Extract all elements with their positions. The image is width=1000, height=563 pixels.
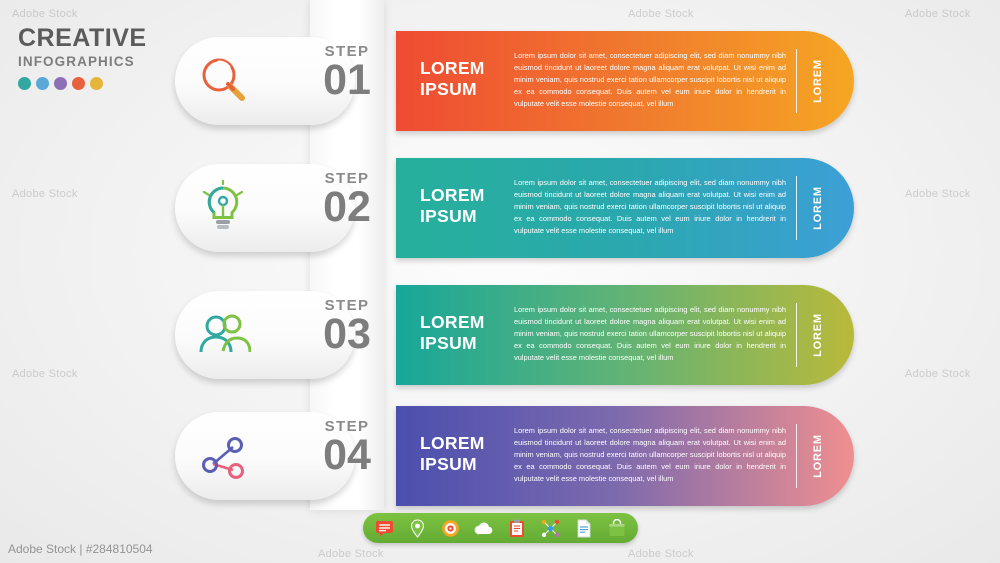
banner-divider: [796, 49, 797, 113]
step-row-2[interactable]: STEP 02 LOREM IPSUM Lorem ipsum dolor si…: [0, 158, 1000, 258]
network-nodes-icon[interactable]: [540, 518, 560, 538]
cloud-icon[interactable]: [474, 518, 494, 538]
banner-body: Lorem ipsum dolor sit amet, consectetuer…: [514, 304, 786, 364]
step-row-1[interactable]: STEP 01 LOREM IPSUM Lorem ipsum dolor si…: [0, 31, 1000, 131]
infographic-canvas: Adobe Stock Adobe Stock Adobe Stock Adob…: [0, 0, 1000, 563]
target-icon[interactable]: [441, 518, 461, 538]
users-icon: [189, 301, 257, 369]
step-number: 04: [312, 434, 382, 477]
clipboard-icon[interactable]: [507, 518, 527, 538]
step-row-3[interactable]: STEP 03 LOREM IPSUM Lorem ipsum dolor si…: [0, 285, 1000, 385]
step-banner[interactable]: LOREM IPSUM Lorem ipsum dolor sit amet, …: [396, 285, 854, 385]
watermark-text: Adobe Stock: [628, 8, 694, 20]
map-pin-icon[interactable]: [407, 518, 427, 538]
banner-side-label: LOREM: [812, 59, 824, 103]
lightbulb-icon: [189, 174, 257, 242]
magnifier-icon: [189, 47, 257, 115]
watermark-text: Adobe Stock: [12, 8, 78, 20]
banner-divider: [796, 424, 797, 488]
banner-side-label: LOREM: [812, 313, 824, 357]
chat-bubble-icon[interactable]: [374, 518, 394, 538]
step-banner[interactable]: LOREM IPSUM Lorem ipsum dolor sit amet, …: [396, 158, 854, 258]
banner-divider: [796, 176, 797, 240]
share-network-icon: [189, 422, 257, 490]
step-number: 02: [312, 186, 382, 229]
banner-body: Lorem ipsum dolor sit amet, consectetuer…: [514, 177, 786, 237]
banner-divider: [796, 303, 797, 367]
watermark-id-bottom: Adobe Stock | #284810504: [8, 542, 153, 556]
watermark-text: Adobe Stock: [628, 548, 694, 560]
step-row-4[interactable]: STEP 04 LOREM IPSUM Lorem ipsum dolor si…: [0, 406, 1000, 506]
banner-side-label: LOREM: [812, 434, 824, 478]
bottom-icon-bar[interactable]: [363, 513, 638, 543]
step-number: 03: [312, 313, 382, 356]
banner-body: Lorem ipsum dolor sit amet, consectetuer…: [514, 425, 786, 485]
step-number: 01: [312, 59, 382, 102]
banner-side-label: LOREM: [812, 186, 824, 230]
document-icon[interactable]: [574, 518, 594, 538]
step-banner[interactable]: LOREM IPSUM Lorem ipsum dolor sit amet, …: [396, 31, 854, 131]
watermark-text: Adobe Stock: [318, 548, 384, 560]
shopping-bag-icon[interactable]: [607, 518, 627, 538]
banner-body: Lorem ipsum dolor sit amet, consectetuer…: [514, 50, 786, 110]
step-banner[interactable]: LOREM IPSUM Lorem ipsum dolor sit amet, …: [396, 406, 854, 506]
watermark-text: Adobe Stock: [905, 8, 971, 20]
